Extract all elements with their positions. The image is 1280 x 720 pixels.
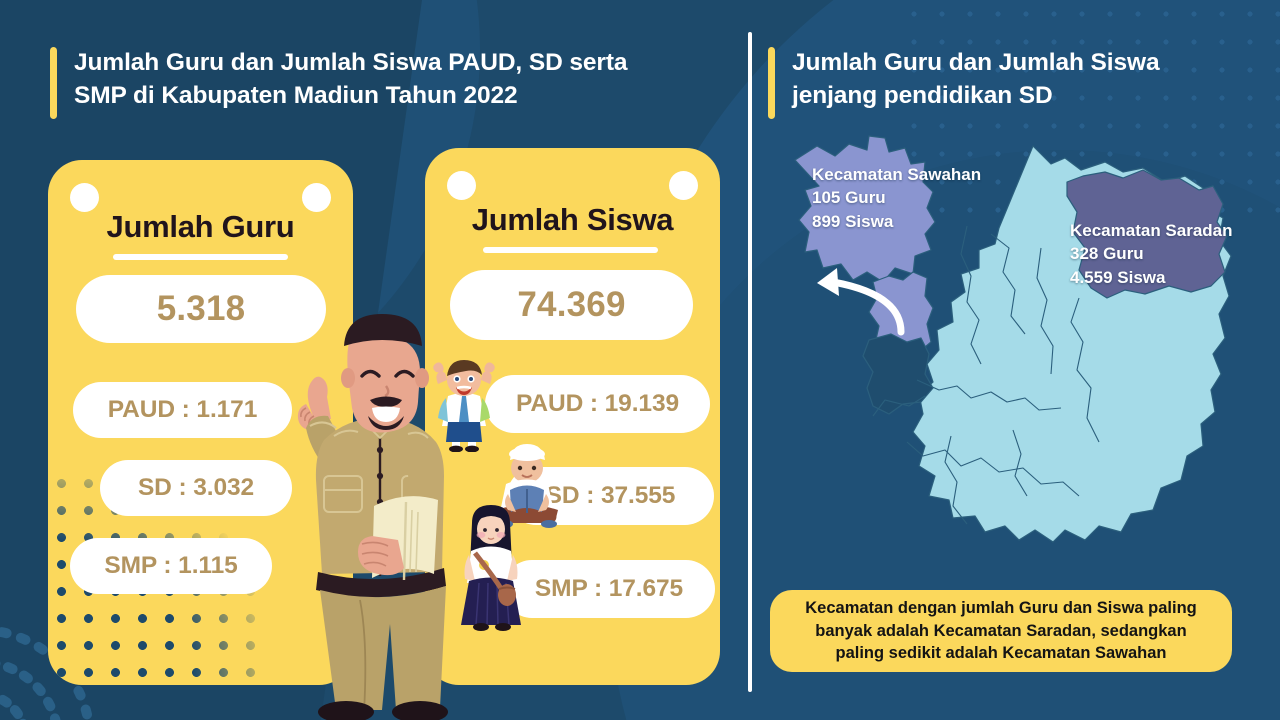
- map-container: Kecamatan Sawahan 105 Guru 899 Siswa Kec…: [755, 130, 1275, 580]
- siswa-paud-value: PAUD : 19.139: [485, 375, 710, 433]
- summary-note-text: Kecamatan dengan jumlah Guru dan Siswa p…: [805, 597, 1197, 665]
- infographic-root: Jumlah Guru dan Jumlah Siswa PAUD, SD se…: [0, 0, 1280, 720]
- left-panel-title: Jumlah Guru dan Jumlah Siswa PAUD, SD se…: [50, 47, 710, 119]
- siswa-total-value: 74.369: [450, 270, 693, 340]
- summary-note-box: Kecamatan dengan jumlah Guru dan Siswa p…: [770, 590, 1232, 672]
- card-punch-hole-right: [669, 171, 698, 200]
- card-punch-hole-left: [70, 183, 99, 212]
- title-accent-bar: [768, 47, 775, 119]
- guru-paud-value: PAUD : 1.171: [73, 382, 292, 438]
- card-punch-hole-right: [302, 183, 331, 212]
- card-title-siswa: Jumlah Siswa: [425, 202, 720, 238]
- student-girl-illustration: [455, 503, 527, 631]
- siswa-smp-value: SMP : 17.675: [503, 560, 715, 618]
- right-title-text: Jumlah Guru dan Jumlah Siswa jenjang pen…: [792, 47, 1160, 119]
- map-label-sawahan: Kecamatan Sawahan 105 Guru 899 Siswa: [812, 163, 981, 233]
- card-title-guru: Jumlah Guru: [48, 209, 353, 245]
- map-label-saradan: Kecamatan Saradan 328 Guru 4.559 Siswa: [1070, 219, 1233, 289]
- panel-divider: [748, 32, 752, 692]
- card-punch-hole-left: [447, 171, 476, 200]
- card-title-underline: [113, 254, 288, 260]
- right-panel-title: Jumlah Guru dan Jumlah Siswa jenjang pen…: [768, 47, 1238, 119]
- left-title-text: Jumlah Guru dan Jumlah Siswa PAUD, SD se…: [74, 47, 627, 119]
- card-title-underline: [483, 247, 658, 253]
- title-accent-bar: [50, 47, 57, 119]
- guru-smp-value: SMP : 1.115: [70, 538, 272, 594]
